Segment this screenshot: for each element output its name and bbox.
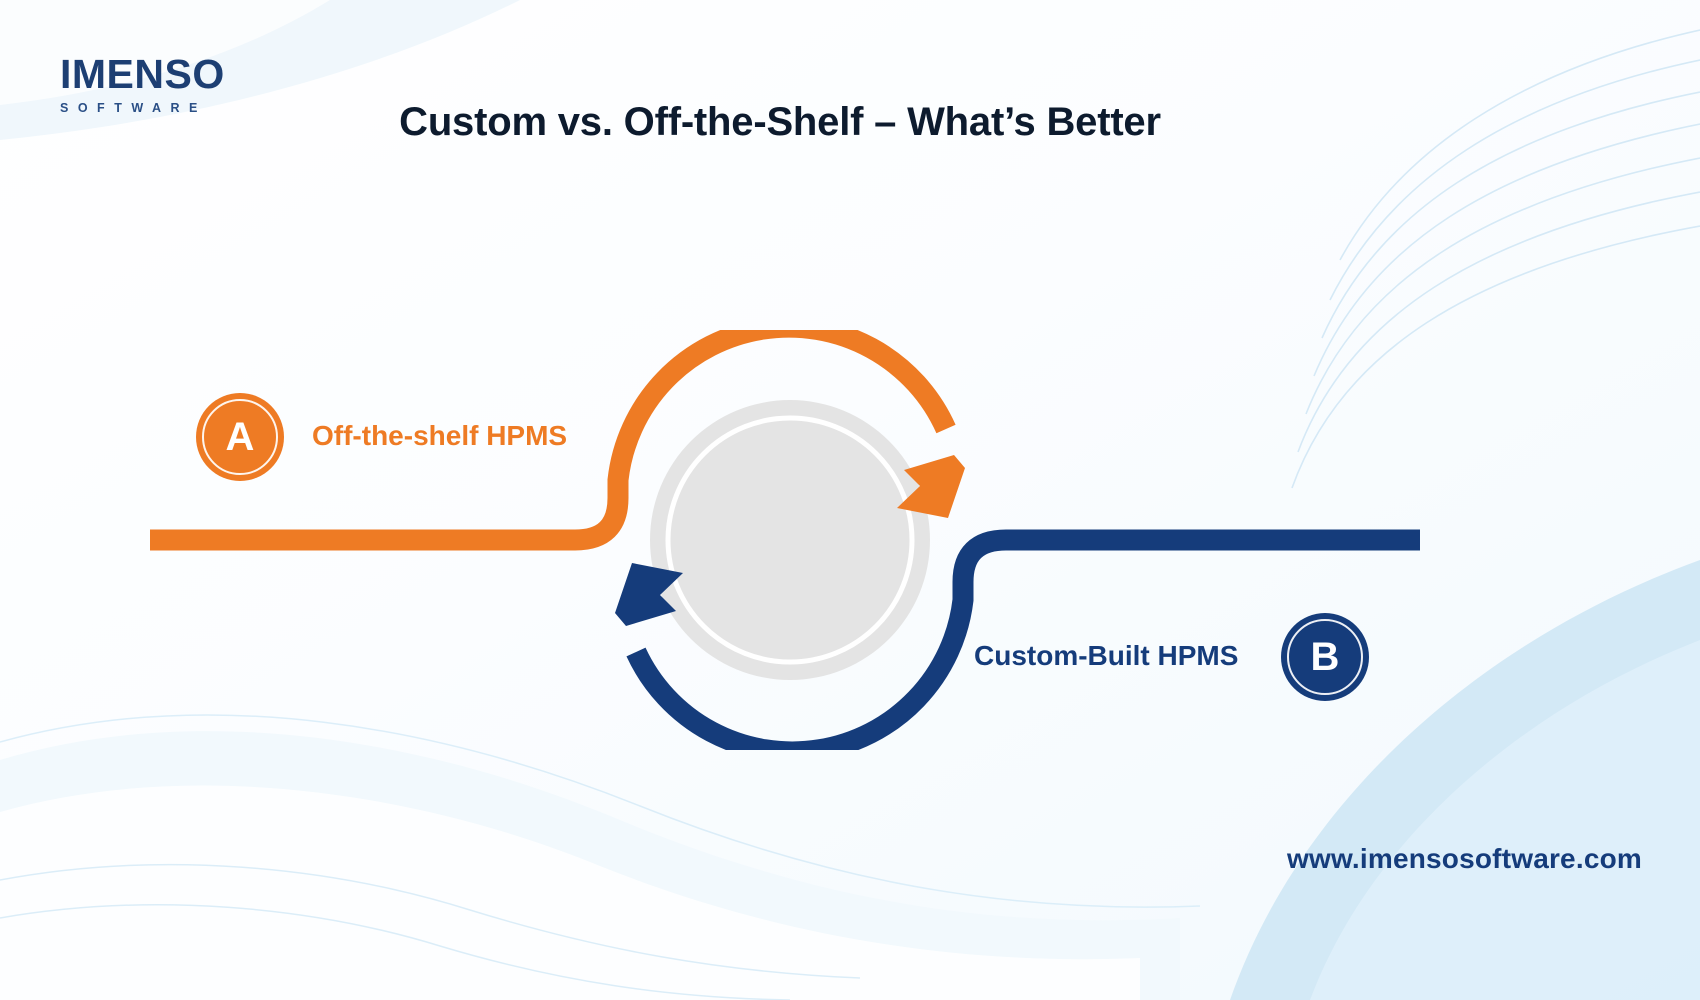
title-divider [583, 179, 993, 188]
center-disc [650, 400, 930, 680]
footer-website-url[interactable]: www.imensosoftware.com [1287, 843, 1642, 875]
divider-segment-orange [583, 179, 785, 188]
badge-b-letter: B [1311, 637, 1340, 677]
infographic-canvas: IMENSO SOFTWARE Custom vs. Off-the-Shelf… [0, 0, 1700, 1000]
branch-label-custom-built: Custom-Built HPMS [974, 640, 1238, 672]
divider-segment-navy [785, 179, 993, 188]
badge-b[interactable]: B [1281, 613, 1369, 701]
branch-label-off-the-shelf: Off-the-shelf HPMS [312, 420, 567, 452]
page-title: Custom vs. Off-the-Shelf – What’s Better [200, 100, 1360, 145]
badge-a-letter: A [226, 417, 255, 457]
branch-loop-diagram [120, 330, 1460, 750]
badge-a[interactable]: A [196, 393, 284, 481]
logo-wordmark: IMENSO [60, 54, 300, 95]
